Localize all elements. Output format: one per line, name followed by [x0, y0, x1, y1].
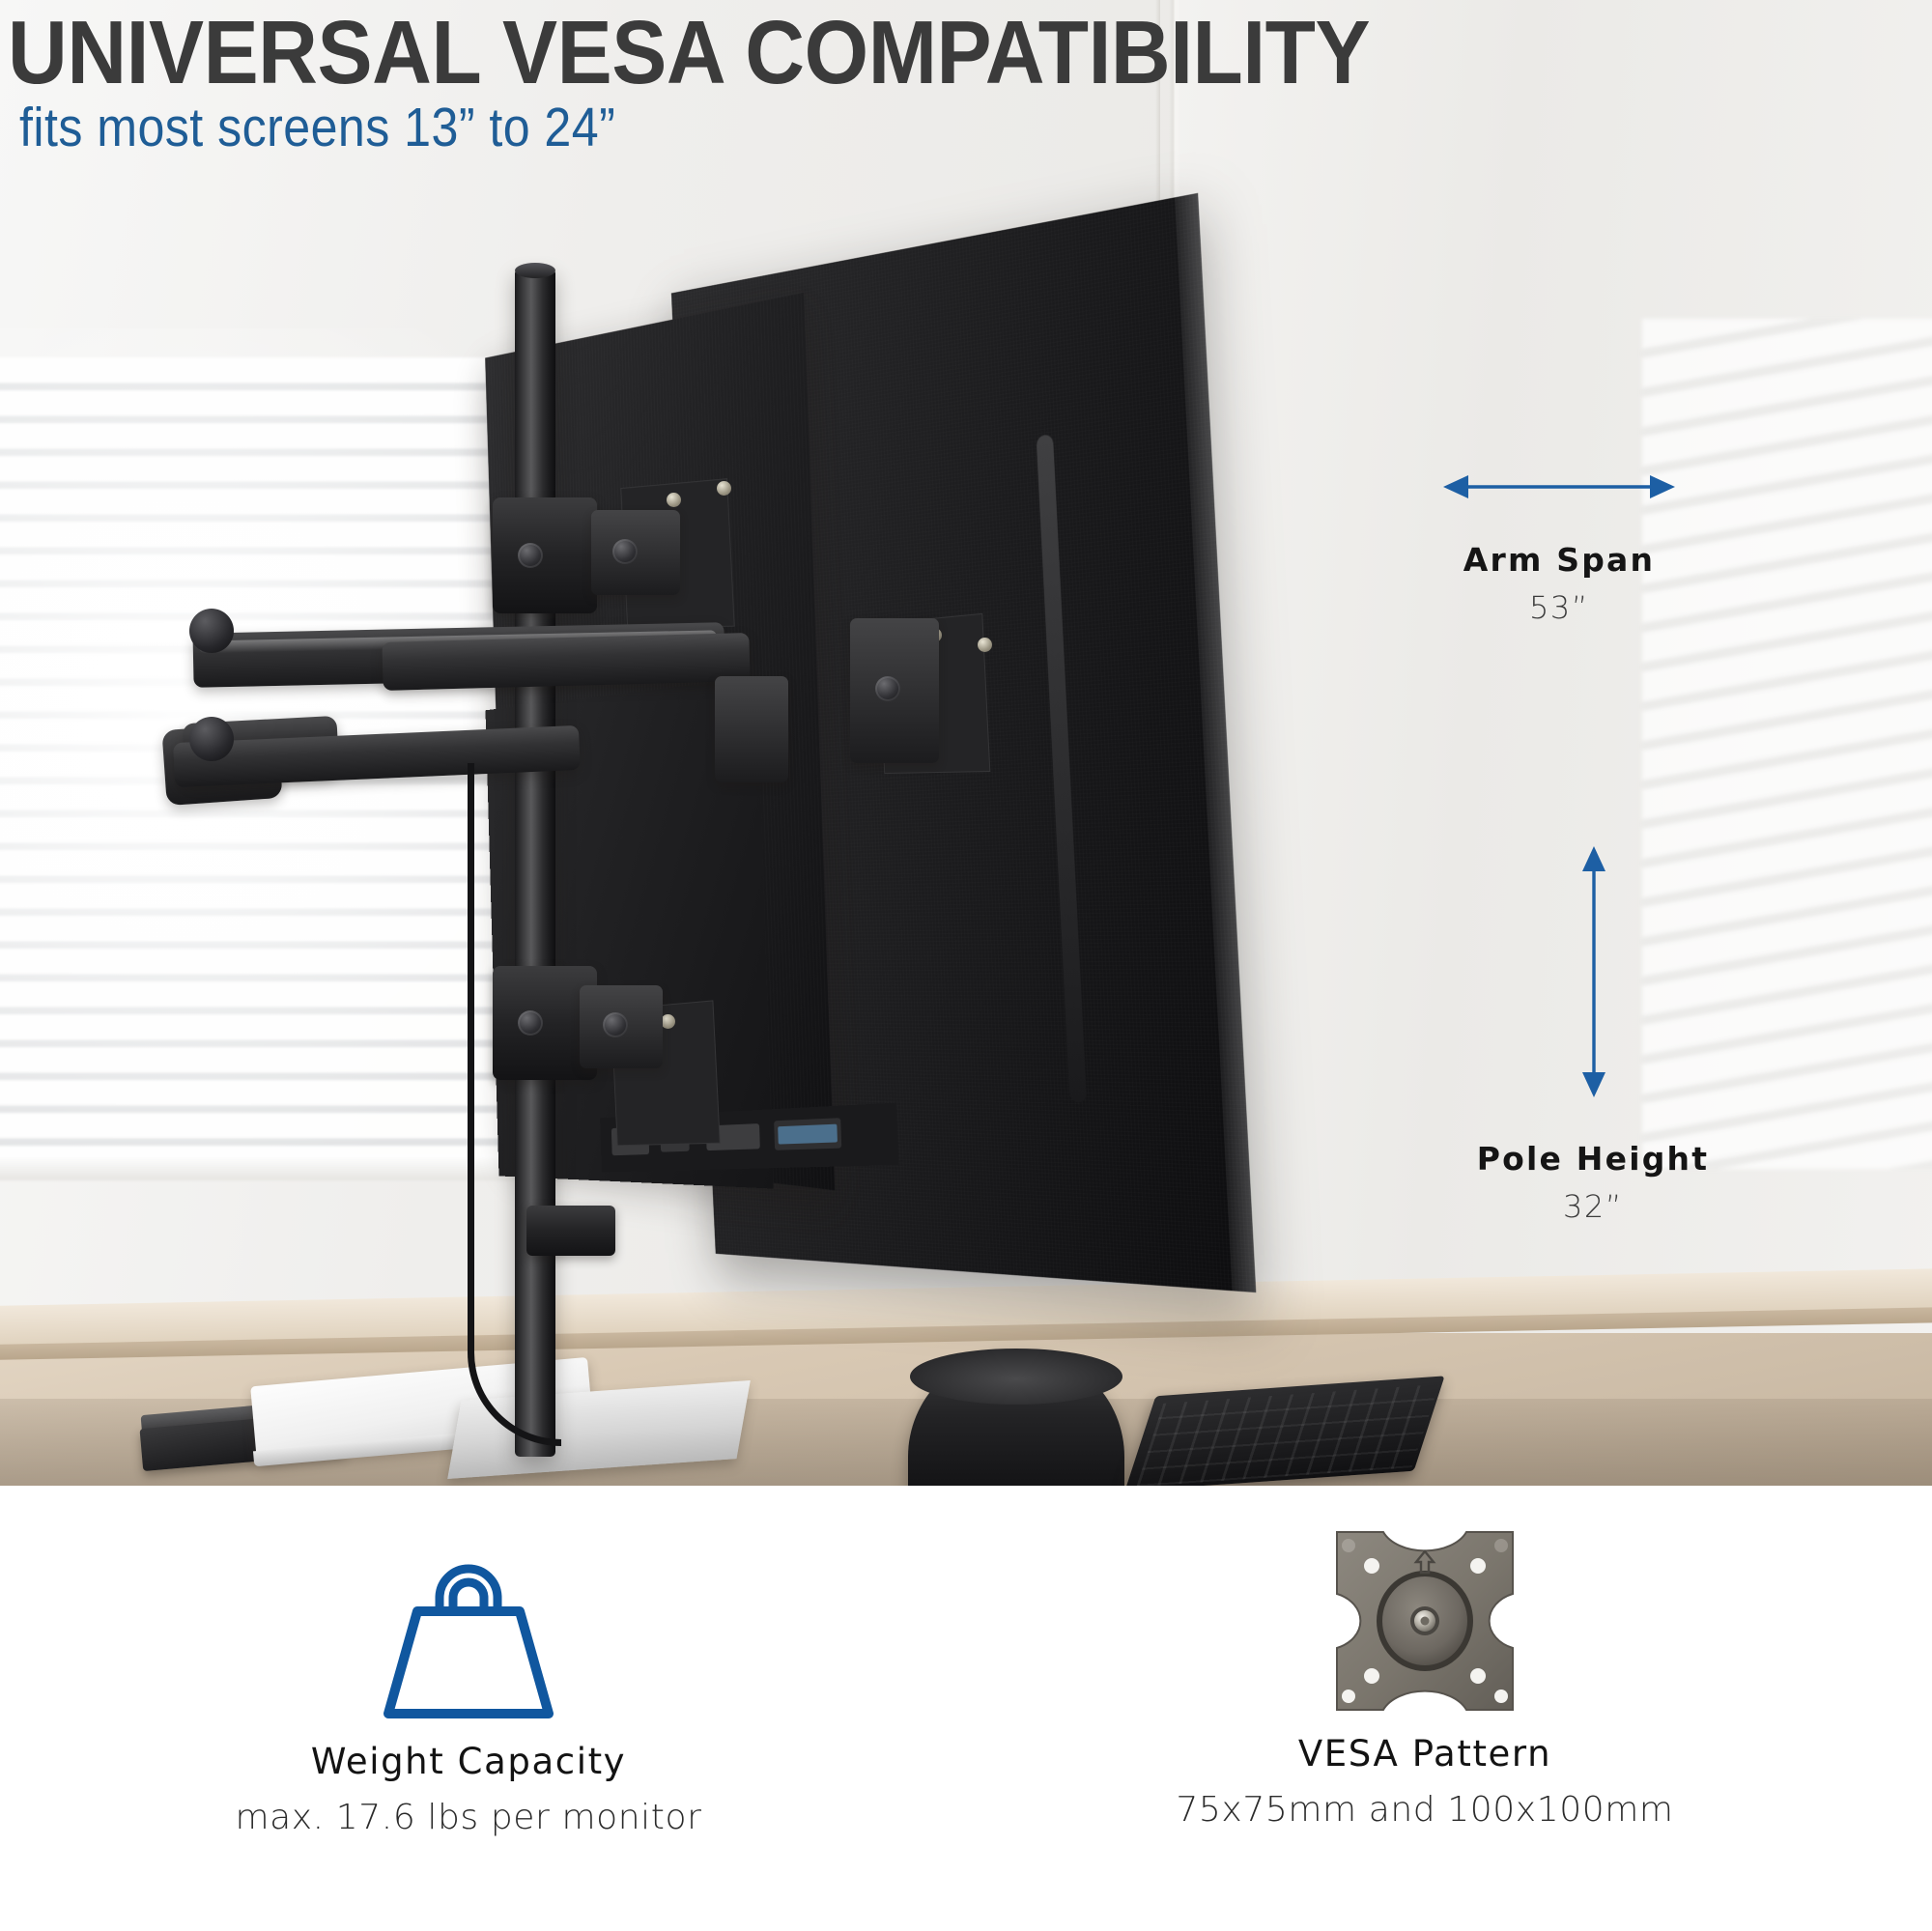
- mount-screw: [667, 493, 681, 507]
- feature-weight-capacity: Weight Capacity max. 17.6 lbs per monito…: [58, 1532, 879, 1837]
- mount-screw: [978, 638, 992, 652]
- weight-capacity-value: max. 17.6 lbs per monitor: [58, 1798, 879, 1837]
- vesa-plate-icon: [1323, 1524, 1526, 1718]
- pole-height-value: 32”: [1356, 1188, 1830, 1225]
- product-photo: UNIVERSAL VESA COMPATIBILITY fits most s…: [0, 0, 1932, 1486]
- pole-height-label: Pole Height: [1356, 1140, 1830, 1178]
- pole-cap: [515, 263, 555, 278]
- clamp-bolt: [518, 543, 543, 568]
- vesa-icon-wrap: [995, 1524, 1855, 1718]
- articulating-arm-middle: [382, 633, 750, 691]
- joint-bolt: [875, 676, 900, 701]
- swivel-joint: [715, 676, 788, 782]
- arm-span-label: Arm Span: [1356, 541, 1762, 579]
- window-blinds-right: [1642, 319, 1932, 1169]
- vesa-pattern-label: VESA Pattern: [995, 1733, 1855, 1775]
- arm-span-value: 53”: [1356, 589, 1762, 626]
- feature-panel: Weight Capacity max. 17.6 lbs per monito…: [0, 1486, 1932, 1931]
- pole-height-arrow: [1580, 846, 1607, 1097]
- cable: [468, 763, 561, 1446]
- arm-end-knob: [189, 717, 234, 761]
- speaker-top: [910, 1349, 1122, 1405]
- feature-vesa-pattern: VESA Pattern 75x75mm and 100x100mm: [995, 1524, 1855, 1830]
- page-title: UNIVERSAL VESA COMPATIBILITY: [8, 8, 1370, 98]
- weight-icon: [348, 1551, 589, 1725]
- vesa-pattern-value: 75x75mm and 100x100mm: [995, 1790, 1855, 1830]
- joint-bolt: [612, 539, 638, 564]
- infographic-page: UNIVERSAL VESA COMPATIBILITY fits most s…: [0, 0, 1932, 1931]
- page-subtitle: fits most screens 13” to 24”: [19, 100, 615, 156]
- mount-screw: [717, 481, 731, 496]
- arm-span-annotation: Arm Span 53”: [1356, 541, 1762, 626]
- pole-clamp-upper: [493, 497, 597, 613]
- joint-bolt: [603, 1012, 628, 1037]
- mount-screw: [661, 1014, 675, 1029]
- weight-capacity-label: Weight Capacity: [58, 1741, 879, 1782]
- weight-icon-wrap: [58, 1532, 879, 1725]
- arm-pivot-knob: [189, 609, 234, 653]
- arm-span-arrow: [1443, 473, 1675, 500]
- pole-height-annotation: Pole Height 32”: [1356, 1140, 1830, 1225]
